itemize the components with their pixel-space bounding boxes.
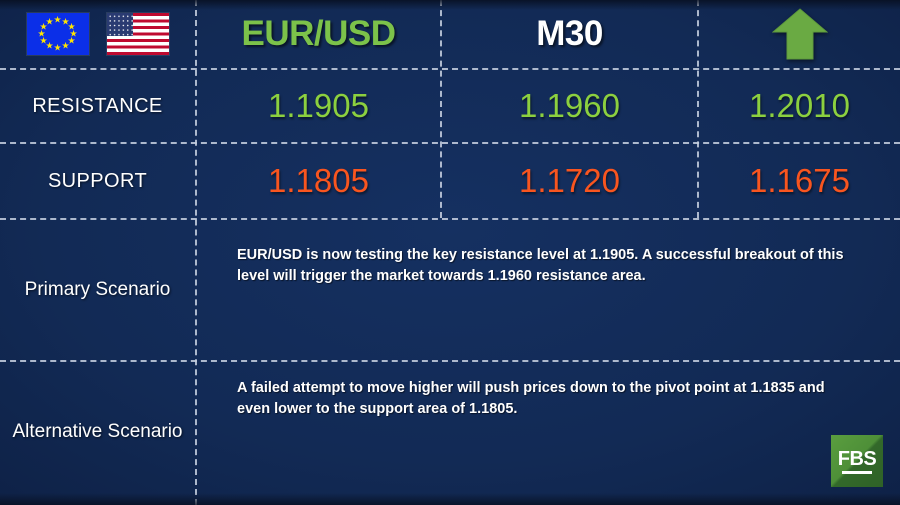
trend-cell [699, 0, 900, 68]
support-value-3: 1.1675 [699, 144, 900, 218]
primary-scenario-body: EUR/USD is now testing the key resistanc… [197, 245, 887, 325]
forex-analysis-card: ★ ★ ★ ★ ★ ★ ★ ★ ★ ★ ★ ★ EUR/USD M30 [0, 0, 900, 505]
primary-scenario-label: Primary Scenario [0, 220, 195, 360]
alternative-scenario-label: Alternative Scenario [0, 362, 195, 502]
timeframe-label: M30 [536, 14, 603, 54]
resistance-value-1: 1.1905 [197, 70, 440, 142]
support-row-label: SUPPORT [0, 144, 195, 218]
divider-column-1 [195, 0, 197, 505]
divider-primary-bottom [0, 360, 900, 362]
support-value-2: 1.1720 [442, 144, 697, 218]
alternative-scenario-body: A failed attempt to move higher will pus… [197, 378, 887, 458]
us-flag-icon [107, 13, 169, 55]
divider-header-bottom [0, 68, 900, 70]
resistance-value-2: 1.1960 [442, 70, 697, 142]
alternative-scenario-label-text: Alternative Scenario [12, 418, 182, 446]
divider-column-2 [440, 0, 442, 218]
resistance-row-label: RESISTANCE [0, 70, 195, 142]
resistance-value-3: 1.2010 [699, 70, 900, 142]
timeframe-cell: M30 [442, 0, 697, 68]
divider-resistance-bottom [0, 142, 900, 144]
currency-flags: ★ ★ ★ ★ ★ ★ ★ ★ ★ ★ ★ ★ [0, 0, 195, 68]
support-value-1: 1.1805 [197, 144, 440, 218]
primary-scenario-text: EUR/USD is now testing the key resistanc… [197, 245, 887, 287]
currency-pair-label: EUR/USD [241, 14, 395, 54]
fbs-logo: FBS [831, 435, 883, 487]
divider-column-3 [697, 0, 699, 218]
eu-flag-icon: ★ ★ ★ ★ ★ ★ ★ ★ ★ ★ ★ ★ [27, 13, 89, 55]
alternative-scenario-text: A failed attempt to move higher will pus… [197, 378, 887, 420]
us-flag-canton [107, 13, 133, 36]
fbs-logo-underline [842, 471, 872, 474]
currency-pair-cell: EUR/USD [197, 0, 440, 68]
arrow-up-icon [772, 8, 828, 60]
divider-support-bottom [0, 218, 900, 220]
us-flag-stars [107, 13, 133, 36]
fbs-logo-text: FBS [838, 449, 877, 469]
